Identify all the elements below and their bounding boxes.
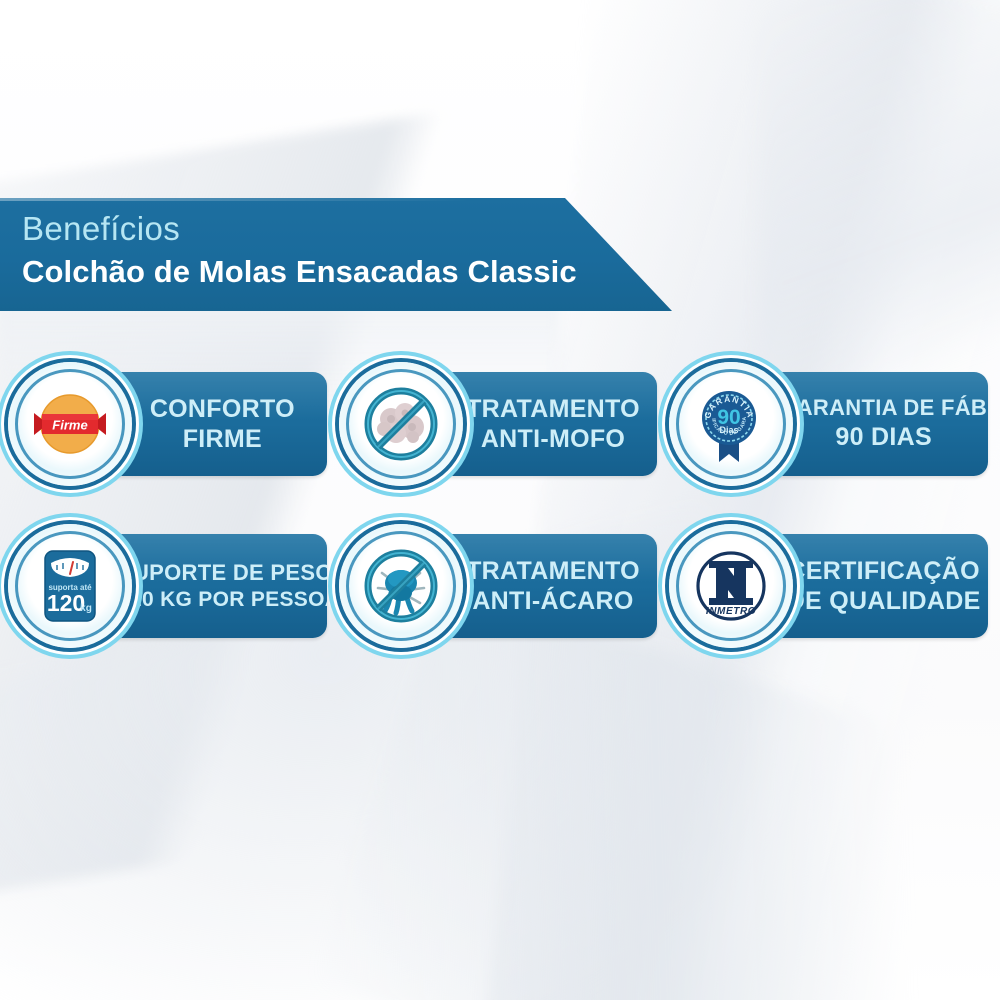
scale-weight-unit: kg [80, 603, 92, 614]
weight-scale-icon: suporta até 120 kg [27, 543, 113, 629]
badge-line-1: CERTIFICAÇÃO [779, 556, 988, 587]
warranty-days-label: Dias [720, 425, 739, 435]
badge-line-1: TRATAMENTO [449, 394, 658, 425]
banner-title: Colchão de Molas Ensacadas Classic [22, 250, 577, 294]
firme-icon-label: Firme [52, 418, 87, 433]
no-dustmite-icon [358, 543, 444, 629]
banner-content: Benefícios Colchão de Molas Ensacadas Cl… [22, 208, 577, 294]
badge-line-2: DE QUALIDADE [779, 586, 988, 617]
badge-anti-acaro: TRATAMENTO ANTI-ÁCARO [339, 524, 662, 642]
badge-line-2: ANTI-ÁCARO [449, 586, 658, 617]
badge-conforto-firme: CONFORTO FIRME Firme [8, 362, 331, 480]
inmetro-label: INMETRO [706, 606, 756, 617]
badge-line-2: FIRME [118, 424, 327, 455]
banner-eyebrow: Benefícios [22, 208, 577, 250]
badge-certificacao: CERTIFICAÇÃO DE QUALIDADE INMETRO [669, 524, 992, 642]
no-mold-icon [358, 381, 444, 467]
badge-anti-mofo: TRATAMENTO ANTI-MOFO [339, 362, 662, 480]
badge-line-1: TRATAMENTO [449, 556, 658, 587]
badge-medallion [339, 362, 463, 486]
benefits-grid: CONFORTO FIRME Firme [8, 362, 992, 664]
badge-line-1: GARANTIA DE FÁBRICA [779, 395, 988, 422]
benefits-infographic: Benefícios Colchão de Molas Ensacadas Cl… [0, 0, 1000, 1000]
inmetro-logo-icon: INMETRO [688, 543, 774, 629]
badge-line-1: SUPORTE DE PESO [118, 560, 327, 587]
badge-medallion: suporta até 120 kg [8, 524, 132, 648]
badge-medallion: GARANTIA CERTIFICADO DE GARANTIA 90 Dias [669, 362, 793, 486]
badge-medallion: Firme [8, 362, 132, 486]
badge-line-2: 90 DIAS [779, 422, 988, 453]
badge-suporte-peso: SUPORTE DE PESO 120 KG POR PESSOA [8, 524, 331, 642]
badge-medallion: INMETRO [669, 524, 793, 648]
banner-highlight [0, 198, 672, 201]
header-banner: Benefícios Colchão de Molas Ensacadas Cl… [0, 198, 672, 311]
firme-seal-icon: Firme [27, 381, 113, 467]
warranty-seal-icon: GARANTIA CERTIFICADO DE GARANTIA 90 Dias [688, 381, 774, 467]
badge-line-2: 120 KG POR PESSOA [118, 587, 327, 613]
badge-line-1: CONFORTO [118, 394, 327, 425]
badge-medallion [339, 524, 463, 648]
badge-garantia: GARANTIA DE FÁBRICA 90 DIAS [669, 362, 992, 480]
badge-line-2: ANTI-MOFO [449, 424, 658, 455]
